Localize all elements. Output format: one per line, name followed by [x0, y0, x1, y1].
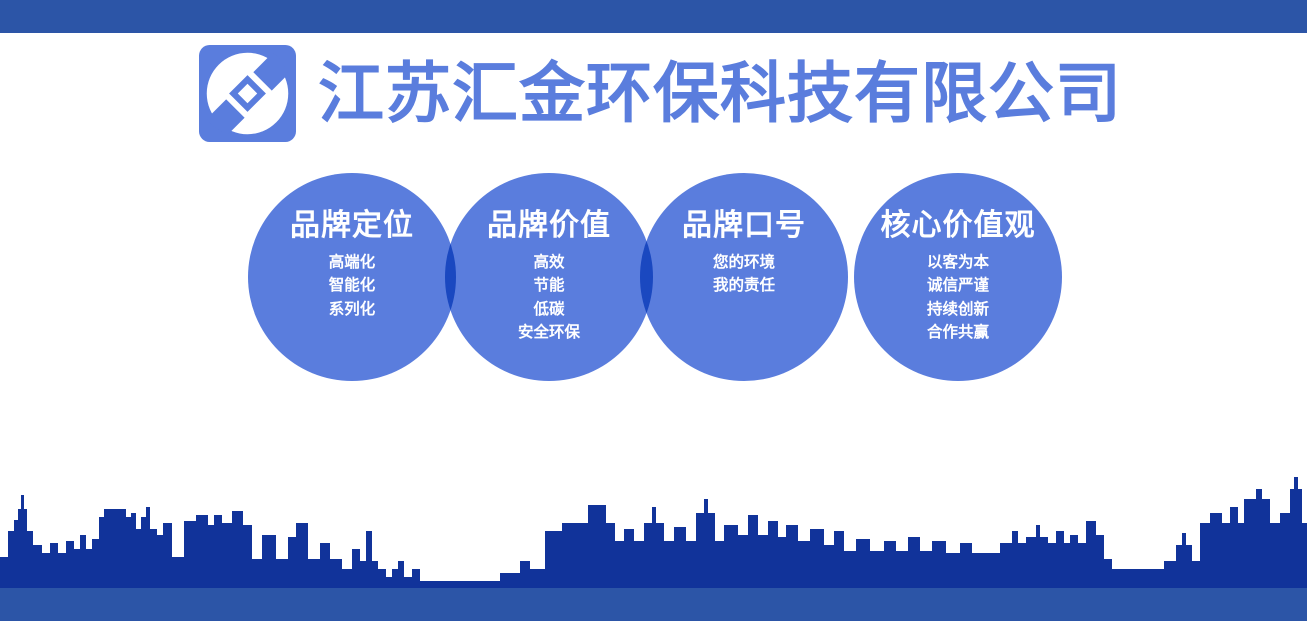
circle-items: 以客为本 诚信严谨 持续创新 合作共赢: [927, 251, 989, 345]
circle-item: 高端化: [329, 251, 376, 275]
circle-item: 安全环保: [518, 321, 580, 345]
circle-item: 您的环境: [713, 251, 775, 275]
circle-title: 品牌口号: [682, 210, 806, 242]
circle-item: 节能: [518, 274, 580, 298]
circle-title: 品牌定位: [290, 210, 414, 242]
circle-title: 品牌价值: [487, 210, 611, 242]
circle-label-core-values[interactable]: 核心价值观 以客为本 诚信严谨 持续创新 合作共赢: [852, 210, 1064, 345]
circle-item: 高效: [518, 251, 580, 275]
city-skyline-silhouette: [0, 465, 1307, 588]
bottom-band: [0, 588, 1307, 621]
circle-item: 智能化: [329, 274, 376, 298]
circle-item: 系列化: [329, 298, 376, 322]
circle-items: 高效 节能 低碳 安全环保: [518, 251, 580, 345]
circle-label-brand-positioning[interactable]: 品牌定位 高端化 智能化 系列化: [246, 210, 458, 321]
circle-title: 核心价值观: [881, 210, 1036, 242]
banner-canvas: 江苏汇金环保科技有限公司 品牌定位 高端化 智能化: [0, 0, 1307, 621]
circle-items: 高端化 智能化 系列化: [329, 251, 376, 322]
circle-item: 我的责任: [713, 274, 775, 298]
circle-item: 低碳: [518, 298, 580, 322]
circle-items: 您的环境 我的责任: [713, 251, 775, 298]
circle-label-brand-value[interactable]: 品牌价值 高效 节能 低碳 安全环保: [443, 210, 655, 345]
circle-item: 诚信严谨: [927, 274, 989, 298]
circle-label-brand-slogan[interactable]: 品牌口号 您的环境 我的责任: [638, 210, 850, 298]
circle-item: 持续创新: [927, 298, 989, 322]
circle-item: 合作共赢: [927, 321, 989, 345]
circle-item: 以客为本: [927, 251, 989, 275]
